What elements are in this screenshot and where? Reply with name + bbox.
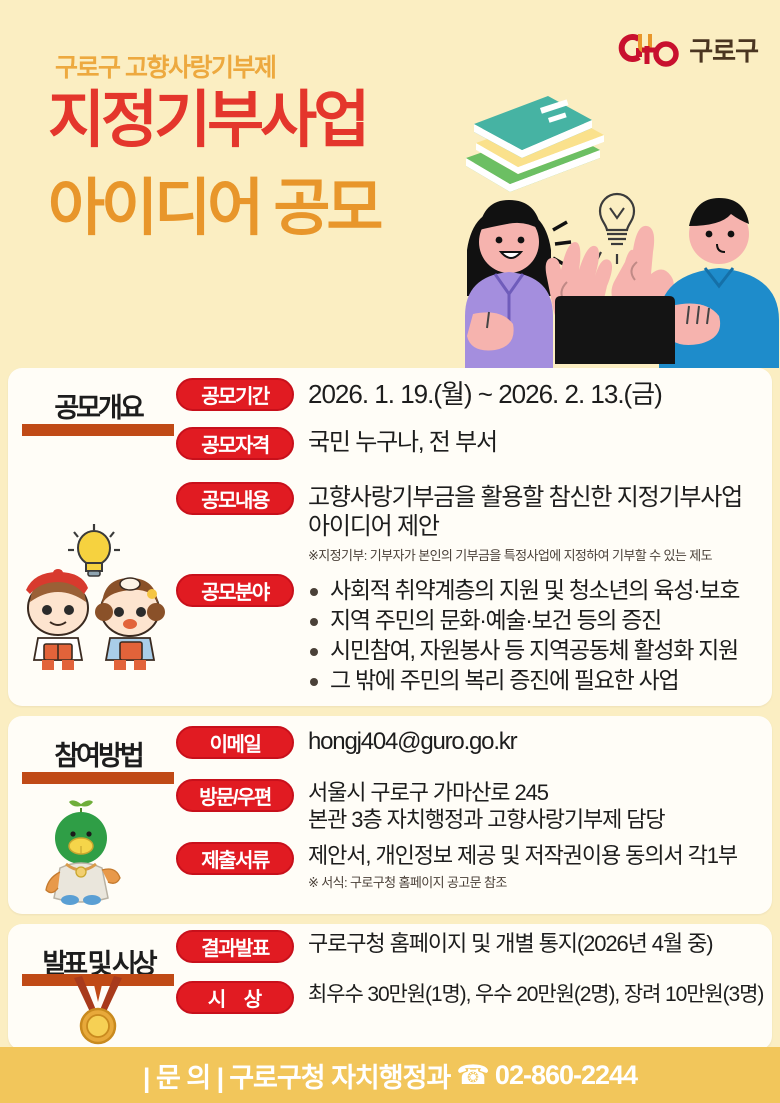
fields-list: 사회적 취약계층의 지원 및 청소년의 육성·보호 지역 주민의 문화·예술·보… (308, 575, 739, 696)
row-content: 공모내용 고향사랑기부금을 활용할 참신한 지정기부사업 아이디어 제안 ※지정… (176, 482, 764, 564)
note-designated-donation: ※지정기부: 기부자가 본인의 기부금을 특정사업에 지정하여 기부할 수 있는… (308, 545, 742, 564)
value-address-line1: 서울시 구로구 가마산로 245 (308, 780, 665, 807)
list-item: 시민참여, 자원봉사 등 지역공동체 활성화 지원 (308, 635, 739, 665)
label-result-announcement: 결과발표 (176, 930, 294, 963)
footer-phone: 02-860-2244 (495, 1060, 637, 1091)
footer-org: 구로구청 자치행정과 (229, 1056, 450, 1095)
label-eligibility: 공모자격 (176, 427, 294, 460)
person-man (659, 198, 779, 368)
kid-girl (95, 578, 165, 670)
section-rule-overview (22, 424, 174, 436)
gold-medal-icon (70, 976, 126, 1046)
poster-root: 구로구 구로구 고향사랑기부제 지정기부사업 아이디어 공모 (0, 0, 780, 1103)
award-rows: 결과발표 구로구청 홈페이지 및 개별 통지(2026년 4월 중) 시 상 최… (176, 930, 764, 1016)
guro-logo: 구로구 (613, 30, 758, 68)
section-title-overview: 공모개요 (24, 386, 172, 425)
section-card-howto: 참여방법 이메일 (8, 716, 772, 914)
label-content: 공모내용 (176, 482, 294, 515)
duck-mascot-illustration (36, 794, 126, 906)
section-card-award: 발표 및 시상 결과발표 구로구청 홈페이지 및 개별 통지(2026년 4월 … (8, 924, 772, 1050)
list-item: 그 밖에 주민의 복리 증진에 필요한 사업 (308, 665, 739, 695)
laptop-icon (555, 296, 675, 364)
label-documents: 제출서류 (176, 842, 294, 875)
section-card-overview: 공모개요 (8, 368, 772, 706)
hero-title-line1: 지정기부사업 (48, 90, 366, 152)
row-visit-post: 방문/우편 서울시 구로구 가마산로 245 본관 3층 자치행정과 고향사랑기… (176, 779, 764, 834)
section-title-howto: 참여방법 (24, 734, 172, 773)
howto-rows: 이메일 hongj404@guro.go.kr 방문/우편 서울시 구로구 가마… (176, 726, 764, 893)
value-documents: 제안서, 개인정보 제공 및 저작권이용 동의서 각1부 (308, 843, 737, 870)
list-item: 지역 주민의 문화·예술·보건 등의 증진 (308, 605, 739, 635)
row-email: 이메일 hongj404@guro.go.kr (176, 726, 764, 759)
label-email: 이메일 (176, 726, 294, 759)
row-prizes: 시 상 최우수 30만원(1명), 우수 20만원(2명), 장려 10만원(3… (176, 981, 764, 1014)
kid-boy (26, 569, 88, 670)
people-illustration (455, 178, 780, 368)
row-application-period: 공모기간 2026. 1. 19.(월) ~ 2026. 2. 13.(금) (176, 378, 764, 411)
label-fields: 공모분야 (176, 574, 294, 607)
section-rule-howto (22, 772, 174, 784)
value-prizes: 최우수 30만원(1명), 우수 20만원(2명), 장려 10만원(3명) (308, 982, 763, 1008)
label-application-period: 공모기간 (176, 378, 294, 411)
label-visit-post: 방문/우편 (176, 779, 294, 812)
small-lightbulb-icon (68, 524, 120, 576)
note-forms: ※ 서식: 구로구청 홈페이지 공고문 참조 (308, 872, 737, 891)
row-result-announcement: 결과발표 구로구청 홈페이지 및 개별 통지(2026년 4월 중) (176, 930, 764, 963)
footer-inquiry-label: | 문 의 | (143, 1056, 223, 1095)
phone-icon: ☎ (456, 1060, 489, 1091)
value-content-line2: 아이디어 제안 (308, 512, 742, 541)
value-eligibility: 국민 누구나, 전 부서 (308, 428, 497, 457)
row-documents: 제출서류 제안서, 개인정보 제공 및 저작권이용 동의서 각1부 ※ 서식: … (176, 842, 764, 892)
row-eligibility: 공모자격 국민 누구나, 전 부서 (176, 427, 764, 460)
footer-text: | 문 의 | 구로구청 자치행정과 ☎02-860-2244 (143, 1056, 637, 1095)
overview-rows: 공모기간 2026. 1. 19.(월) ~ 2026. 2. 13.(금) 공… (176, 378, 764, 697)
two-kids-illustration (16, 520, 176, 670)
label-prizes: 시 상 (176, 981, 294, 1014)
list-item: 사회적 취약계층의 지원 및 청소년의 육성·보호 (308, 575, 739, 605)
value-result-announcement: 구로구청 홈페이지 및 개별 통지(2026년 4월 중) (308, 931, 712, 958)
hero-eyebrow: 구로구 고향사랑기부제 (55, 48, 275, 84)
value-email[interactable]: hongj404@guro.go.kr (308, 727, 516, 756)
hero-banner: 구로구 구로구 고향사랑기부제 지정기부사업 아이디어 공모 (0, 0, 780, 368)
hero-title-line2: 아이디어 공모 (48, 178, 379, 240)
guro-logo-mark (613, 30, 679, 68)
value-address-line2: 본관 3층 자치행정과 고향사랑기부제 담당 (308, 807, 665, 834)
guro-logo-text: 구로구 (689, 31, 758, 68)
footer-contact-bar: | 문 의 | 구로구청 자치행정과 ☎02-860-2244 (0, 1047, 780, 1103)
value-content-line1: 고향사랑기부금을 활용할 참신한 지정기부사업 (308, 483, 742, 512)
value-application-period: 2026. 1. 19.(월) ~ 2026. 2. 13.(금) (308, 379, 662, 411)
row-fields: 공모분야 사회적 취약계층의 지원 및 청소년의 육성·보호 지역 주민의 문화… (176, 574, 764, 696)
